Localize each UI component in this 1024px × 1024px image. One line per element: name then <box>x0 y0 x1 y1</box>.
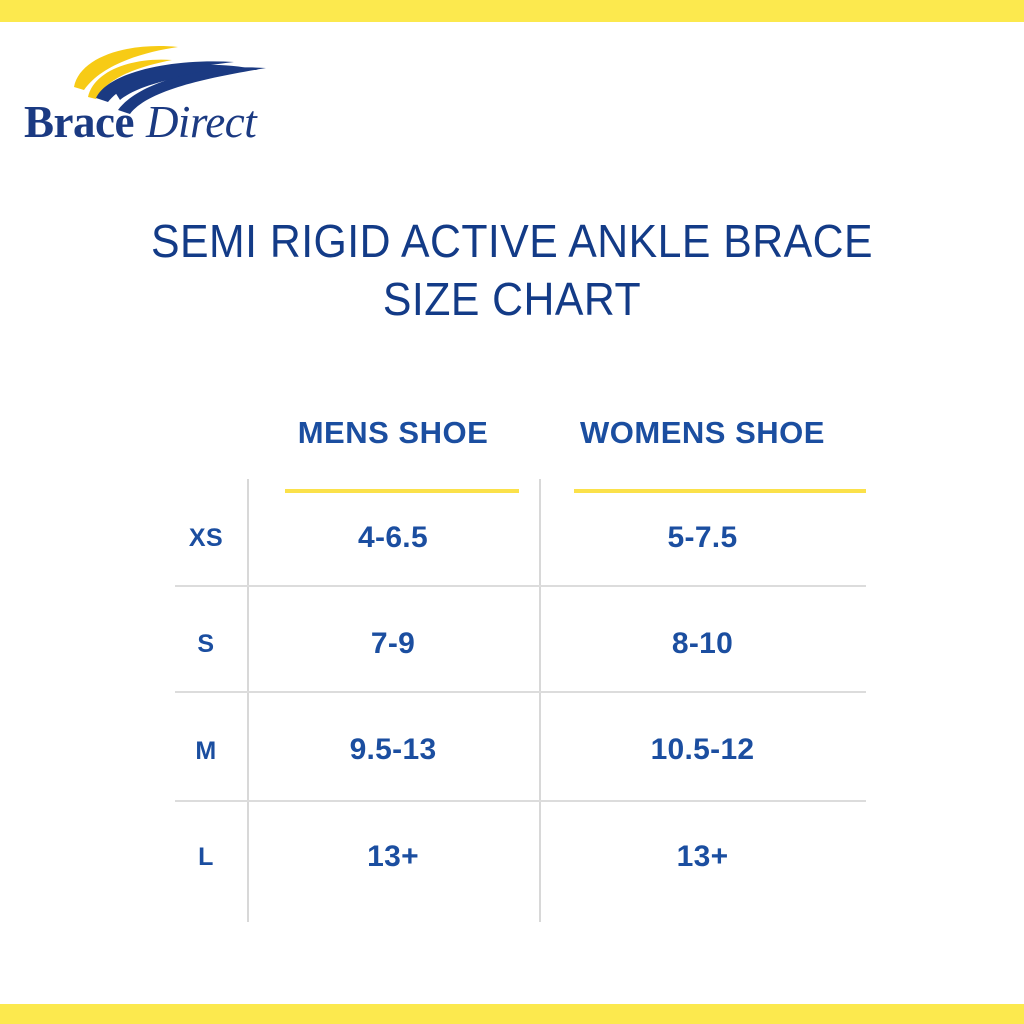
table-cell-womens: 10.5-12 <box>539 733 866 767</box>
table-row-size-label: L <box>165 843 247 872</box>
table-cell-mens: 7-9 <box>247 627 539 661</box>
size-chart-table: MENS SHOE WOMENS SHOE XS 4-6.5 5-7.5 S 7… <box>0 0 1024 1024</box>
table-row-size-label: M <box>165 737 247 766</box>
row-divider-2 <box>175 691 866 693</box>
row-divider-1 <box>175 585 866 587</box>
header-underline-mens <box>285 489 519 493</box>
column-header-mens-shoe: MENS SHOE <box>247 412 539 454</box>
table-row-size-label: XS <box>165 524 247 553</box>
size-chart-page: BraceDirect SEMI RIGID ACTIVE ANKLE BRAC… <box>0 0 1024 1024</box>
column-header-womens-shoe: WOMENS SHOE <box>539 412 866 454</box>
table-cell-womens: 13+ <box>539 840 866 874</box>
row-divider-3 <box>175 800 866 802</box>
table-cell-mens: 13+ <box>247 840 539 874</box>
table-cell-mens: 9.5-13 <box>247 733 539 767</box>
header-underline-womens <box>574 489 866 493</box>
table-cell-mens: 4-6.5 <box>247 521 539 555</box>
table-cell-womens: 8-10 <box>539 627 866 661</box>
table-cell-womens: 5-7.5 <box>539 521 866 555</box>
table-row-size-label: S <box>165 630 247 659</box>
